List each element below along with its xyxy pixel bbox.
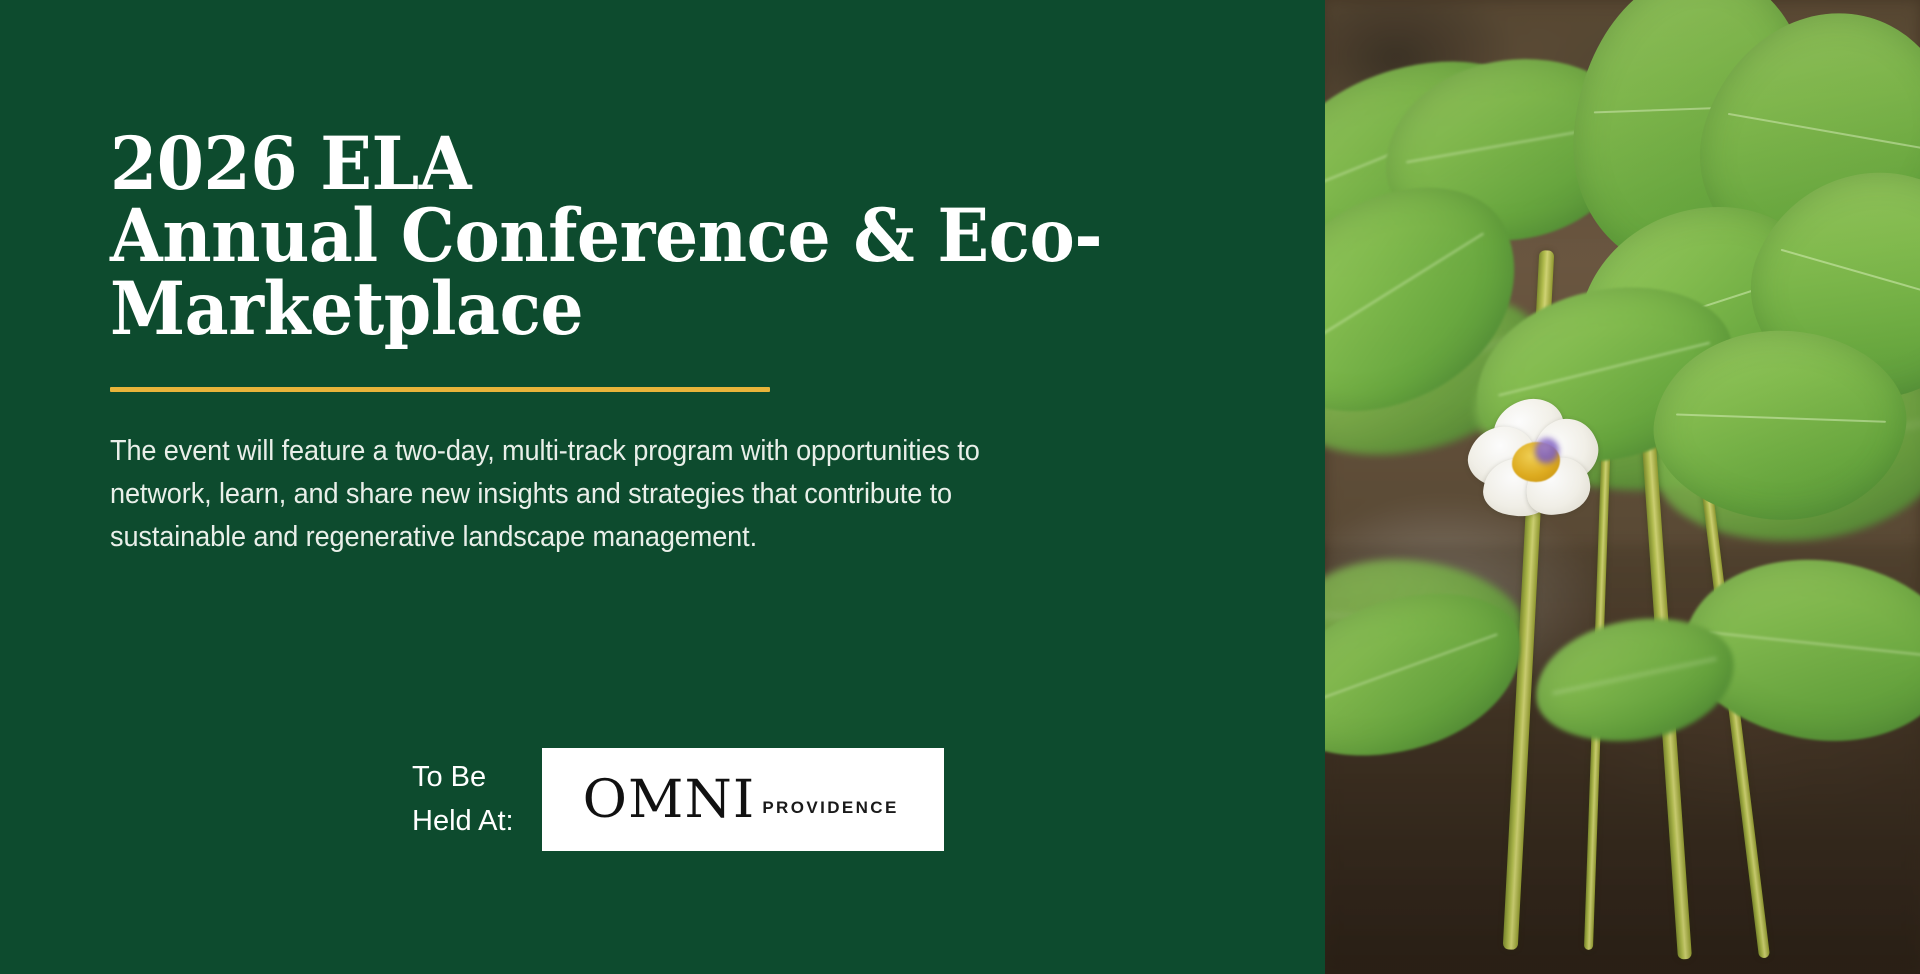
mayapple-flower-icon — [1470, 400, 1605, 525]
omni-brand-text: OMNI — [583, 774, 756, 826]
photo-stage — [1325, 0, 1920, 974]
conference-banner: 2026 ELA Annual Conference & Eco- Market… — [0, 0, 1920, 974]
omni-providence-logo: OMNI PROVIDENCE — [542, 748, 944, 851]
venue-row: To Be Held At: OMNI PROVIDENCE — [412, 748, 944, 851]
venue-label: To Be Held At: — [412, 756, 514, 843]
accent-divider — [110, 387, 770, 392]
event-description: The event will feature a two-day, multi-… — [110, 430, 1089, 560]
violet-blur-icon — [1535, 438, 1559, 464]
banner-content: 2026 ELA Annual Conference & Eco- Market… — [110, 128, 1270, 560]
omni-city-text: PROVIDENCE — [762, 799, 898, 816]
mayapple-plant-photo — [1325, 0, 1920, 974]
banner-text-panel: 2026 ELA Annual Conference & Eco- Market… — [0, 0, 1325, 974]
page-title: 2026 ELA Annual Conference & Eco- Market… — [110, 128, 1189, 345]
